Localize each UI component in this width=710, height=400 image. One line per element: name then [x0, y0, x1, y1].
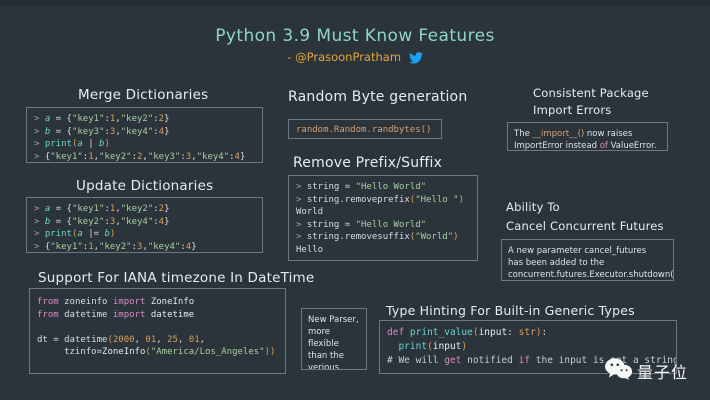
note-line: A new parameter cancel_futures [508, 245, 667, 257]
note-line: New Parser, [308, 314, 360, 326]
section-heading-import-errors-line2: Import Errors [533, 103, 611, 117]
note-block-cancel-futures: A new parameter cancel_futures has been … [501, 239, 674, 281]
note-line: ImportError instead of ValueError. [514, 140, 661, 151]
section-heading-cancel-futures-line1: Ability To [506, 200, 560, 214]
section-heading-type-hinting: Type Hinting For Built-in Generic Types [386, 303, 635, 318]
section-heading-import-errors-line1: Consistent Package [533, 86, 649, 100]
poster-canvas: Python 3.9 Must Know Features - @Prasoon… [0, 0, 710, 400]
note-line: has been added to the [508, 257, 667, 269]
watermark: 量子位 [604, 358, 688, 384]
code-block-iana-timezone: from zoneinfo import ZoneInfo from datet… [29, 288, 286, 374]
author-dash: - [287, 50, 291, 64]
note-line: verious version. [308, 362, 360, 370]
section-heading-remove-prefix-suffix: Remove Prefix/Suffix [293, 155, 442, 171]
code-block-random-byte-generation: random.Random.randbytes() [288, 119, 442, 139]
section-heading-iana-timezone: Support For IANA timezone In DateTime [38, 270, 314, 286]
note-block-new-parser: New Parser, more flexible than the verio… [301, 308, 367, 370]
note-line: more flexible [308, 326, 360, 350]
top-strip [0, 0, 710, 7]
code-block-update-dictionaries: > a = {"key1":1,"key2":2} > b = {"key2":… [26, 197, 263, 253]
note-keyword: of [600, 141, 608, 151]
code-block-remove-prefix-suffix: > string = "Hello World" > string.remove… [288, 175, 478, 261]
note-block-import-errors: The __import__() now raises ImportError … [507, 122, 668, 151]
section-heading-random-byte-generation: Random Byte generation [288, 89, 467, 105]
note-text: now raises [584, 129, 632, 139]
note-line: concurrent.futures.Executor.shutdown(). [508, 269, 667, 281]
page-title: Python 3.9 Must Know Features [0, 26, 710, 46]
section-heading-update-dictionaries: Update Dictionaries [76, 178, 213, 194]
wechat-icon [604, 358, 634, 384]
section-heading-cancel-futures-line2: Cancel Concurrent Futures [506, 219, 664, 233]
twitter-bird-icon[interactable] [409, 52, 423, 67]
code-block-merge-dictionaries: > a = {"key1":1,"key2":2} > b = {"key3":… [26, 107, 263, 163]
author-handle: @PrasoonPratham [295, 50, 401, 64]
author-credit: - @PrasoonPratham [0, 50, 710, 67]
section-heading-merge-dictionaries: Merge Dictionaries [78, 87, 208, 103]
note-code: __import__() [533, 129, 585, 139]
note-line: The __import__() now raises [514, 128, 661, 140]
note-text: ValueError. [608, 141, 657, 151]
note-line: than the [308, 350, 360, 362]
watermark-text: 量子位 [637, 359, 688, 383]
note-text: ImportError instead [514, 141, 600, 151]
note-text: The [514, 129, 533, 139]
